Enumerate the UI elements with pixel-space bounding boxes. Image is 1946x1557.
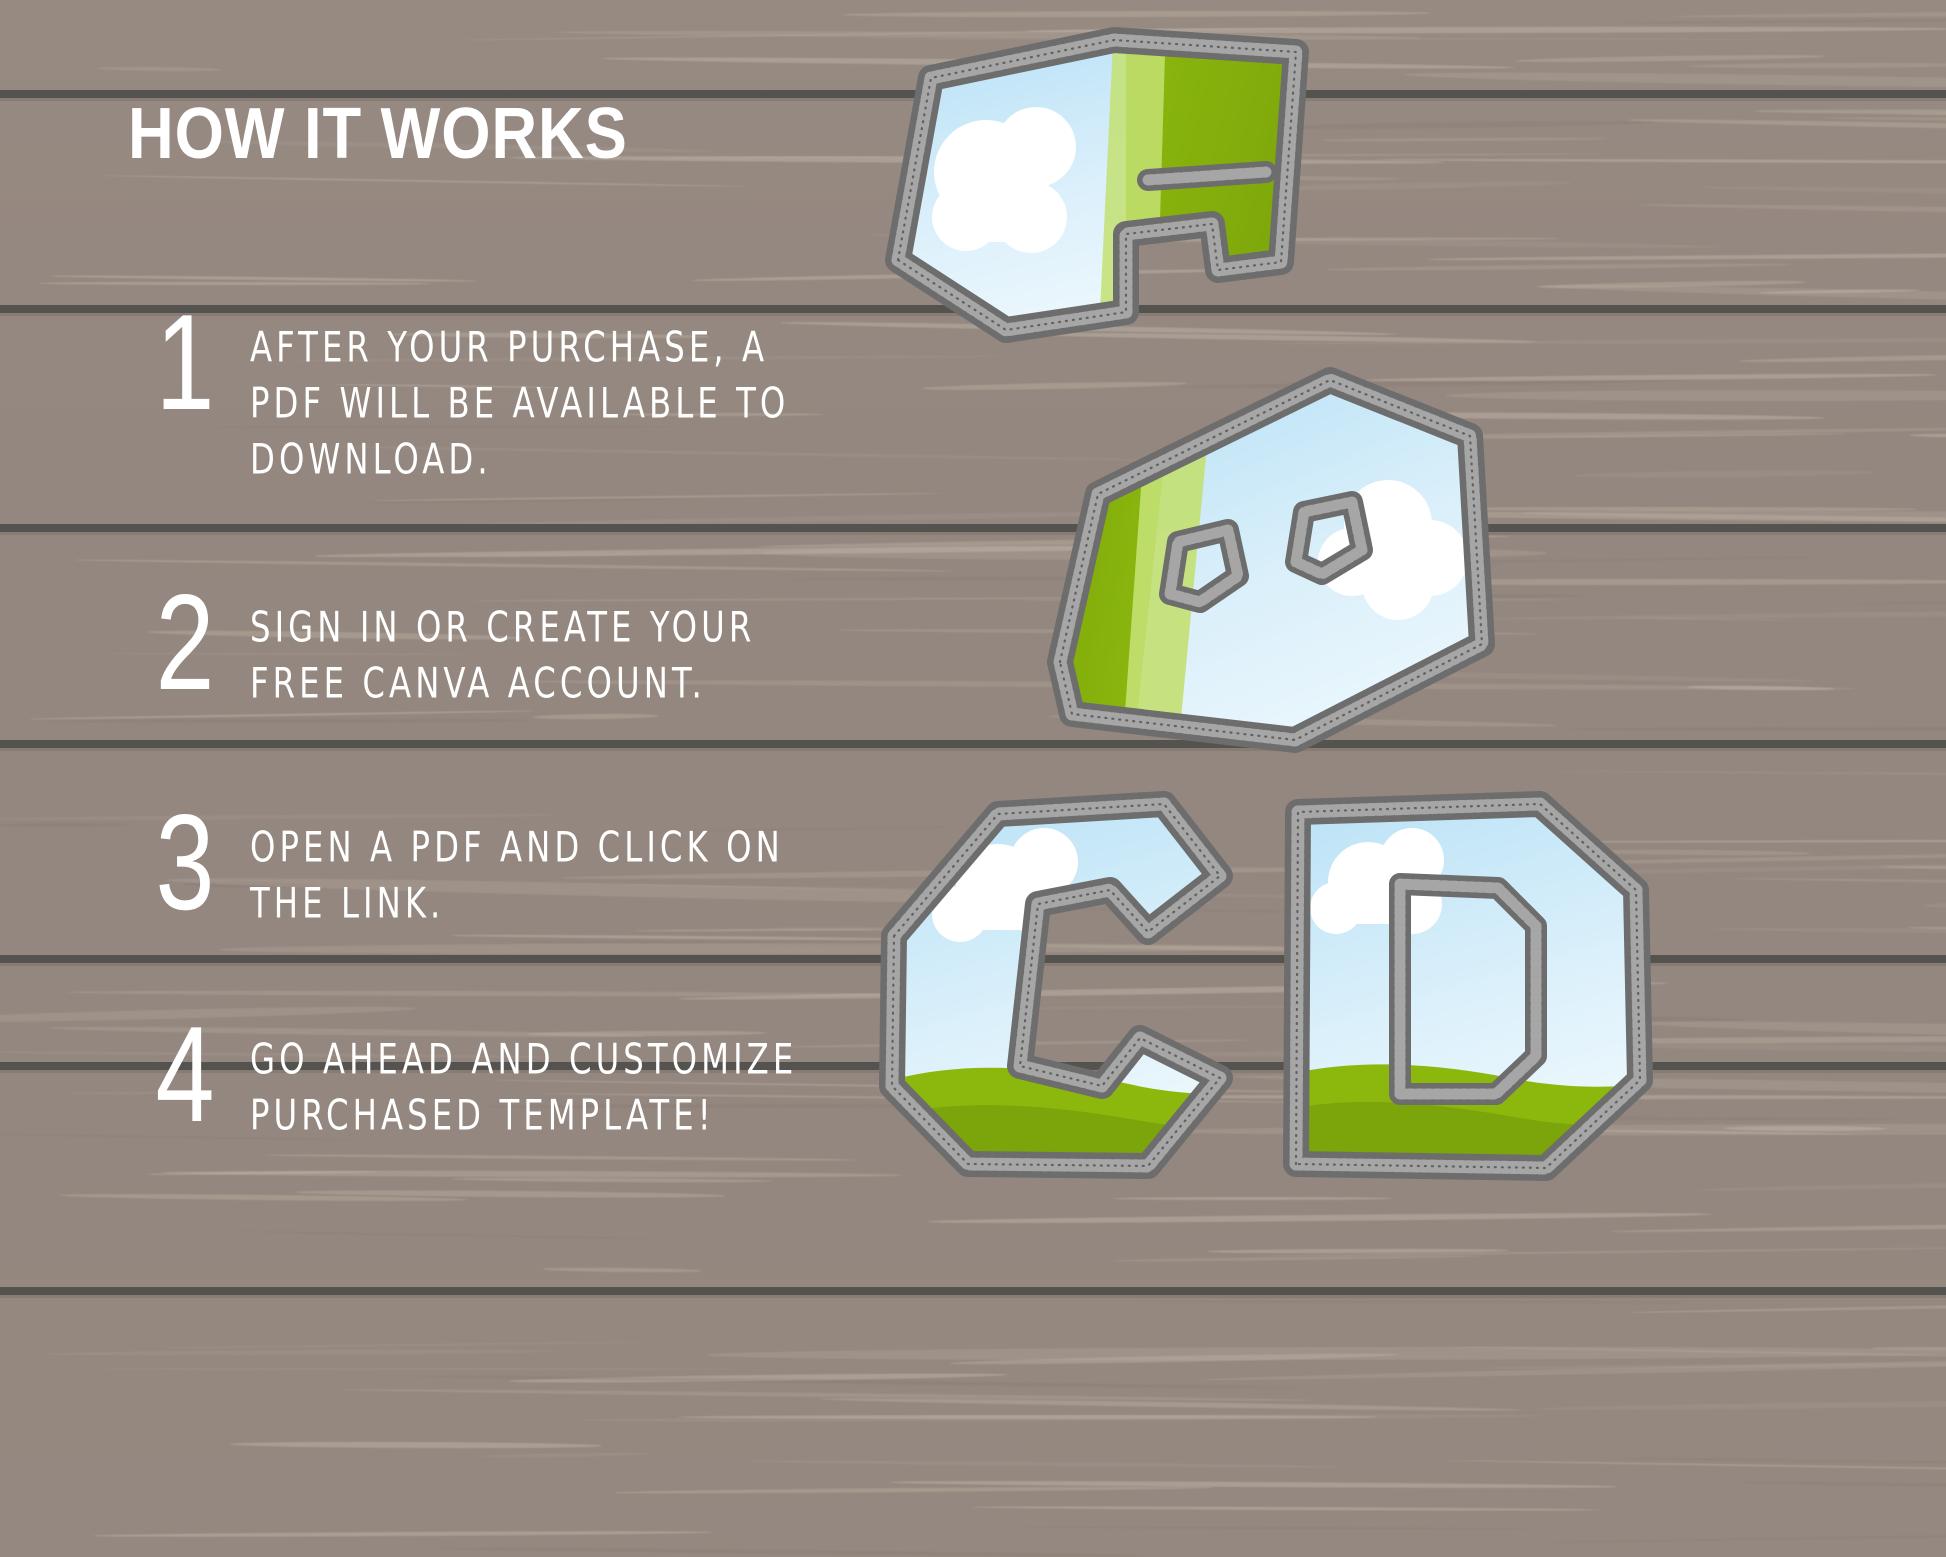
applique-letter-b (1000, 362, 1520, 782)
applique-letter-d (1240, 760, 1700, 1210)
letter-c-fill (848, 766, 1298, 1206)
step-text-line: AFTER YOUR PURCHASE, A (250, 316, 890, 380)
step-number: 3 (134, 800, 235, 925)
step-number: 1 (134, 300, 235, 425)
step-text: GO AHEAD AND CUSTOMIZE PURCHASED TEMPLAT… (250, 1012, 910, 1140)
step-text: SIGN IN OR CREATE YOUR FREE CANVA ACCOUN… (250, 580, 910, 708)
step-item-3: 3 OPEN A PDF AND CLICK ON THE LINK. (120, 800, 910, 928)
step-item-1: 1 AFTER YOUR PURCHASE, A PDF WILL BE AVA… (120, 300, 910, 485)
step-text-line: PDF WILL BE AVAILABLE TO (250, 372, 890, 436)
poster-canvas: HOW IT WORKS 1 AFTER YOUR PURCHASE, A PD… (0, 0, 1946, 1557)
plank-divider-3 (0, 524, 1946, 532)
step-text-line: PURCHASED TEMPLATE! (250, 1084, 890, 1148)
step-text-line: GO AHEAD AND CUSTOMIZE (250, 1028, 890, 1092)
step-text-line: SIGN IN OR CREATE YOUR (250, 596, 890, 660)
plank-divider-4 (0, 740, 1946, 748)
step-text-line: OPEN A PDF AND CLICK ON (250, 816, 890, 880)
step-text-line: FREE CANVA ACCOUNT. (250, 652, 890, 716)
plank-divider-7 (0, 1287, 1946, 1295)
letter-a-crossbar (1148, 172, 1266, 180)
step-text-line: DOWNLOAD. (250, 428, 890, 492)
applique-letter-c (848, 766, 1298, 1206)
step-text: AFTER YOUR PURCHASE, A PDF WILL BE AVAIL… (250, 300, 910, 485)
step-text: OPEN A PDF AND CLICK ON THE LINK. (250, 800, 910, 928)
step-number: 2 (134, 580, 235, 705)
step-text-line: THE LINK. (250, 872, 890, 936)
step-number: 4 (134, 1012, 235, 1137)
page-title: HOW IT WORKS (128, 93, 628, 175)
step-item-2: 2 SIGN IN OR CREATE YOUR FREE CANVA ACCO… (120, 580, 910, 708)
step-item-4: 4 GO AHEAD AND CUSTOMIZE PURCHASED TEMPL… (120, 1012, 910, 1140)
